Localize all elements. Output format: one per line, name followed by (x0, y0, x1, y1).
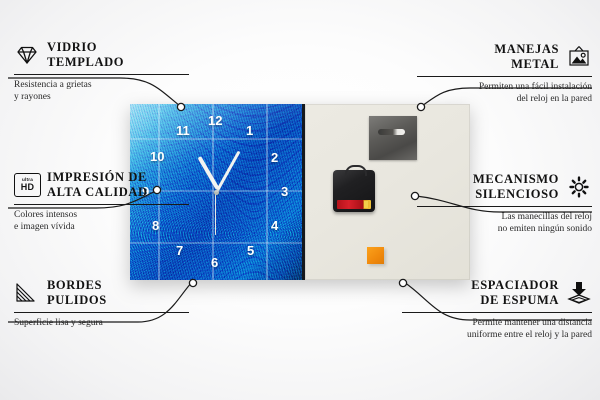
clock-numeral-1: 1 (246, 124, 253, 137)
feature-desc-line1: Permiten una fácil instalación (479, 82, 592, 92)
hanger-slot (378, 129, 405, 135)
clock-numeral-2: 2 (271, 151, 278, 164)
feature-title-line1: ESPACIADOR (471, 278, 559, 292)
clock-minute-hand (216, 151, 241, 192)
feature-desc-line2: del reloj en la pared (517, 94, 592, 104)
diamond-icon (14, 43, 40, 67)
clock-numeral-12: 12 (208, 114, 222, 127)
metal-hanger-plate (369, 116, 417, 160)
feature-divider (14, 74, 189, 75)
feature-desc-line1: Permite mantener una distancia (473, 318, 593, 328)
feature-manejas-metal: MANEJAS METAL Permiten una fácil instala… (417, 42, 592, 106)
feature-title-line1: VIDRIO (47, 40, 97, 54)
polished-edge-icon (14, 281, 40, 305)
infographic-stage: 12 1 2 3 4 5 6 7 8 9 10 11 (0, 0, 600, 400)
feature-title-line1: IMPRESIÓN DE (47, 170, 147, 184)
clock-second-hand (215, 191, 216, 235)
feature-mecanismo-silencioso: MECANISMO SILENCIOSO Las manecillas del … (417, 172, 592, 236)
feature-impresion-alta-calidad: ultraHD IMPRESIÓN DE ALTA CALIDAD Colore… (14, 170, 189, 234)
feature-desc-line2: uniforme entre el reloj y la pared (467, 330, 592, 340)
clock-numeral-6: 6 (211, 256, 218, 269)
feature-bordes-pulidos: BORDES PULIDOS Superficie lisa y segura (14, 278, 189, 329)
spacer-arrow-icon (566, 281, 592, 305)
feature-desc-line1: Superficie lisa y segura (14, 318, 103, 328)
feature-divider (417, 76, 592, 77)
feature-espaciador-espuma: ESPACIADOR DE ESPUMA Permite mantener un… (402, 278, 592, 342)
clock-hour-hand (198, 156, 220, 190)
clock-numeral-7: 7 (176, 244, 183, 257)
feature-desc-line1: Resistencia a grietas (14, 80, 92, 90)
feature-desc-line2: no emiten ningún sonido (498, 224, 592, 234)
feature-desc-line1: Las manecillas del reloj (502, 212, 592, 222)
gear-icon (566, 175, 592, 199)
feature-title-line2: PULIDOS (47, 293, 107, 307)
feature-title-line2: SILENCIOSO (475, 187, 559, 201)
feature-title-line2: ALTA CALIDAD (47, 185, 148, 199)
feature-desc-line1: Colores intensos (14, 210, 77, 220)
clock-numeral-10: 10 (150, 150, 164, 163)
feature-title-line2: DE ESPUMA (480, 293, 559, 307)
feature-divider (417, 206, 592, 207)
picture-hanger-icon (566, 45, 592, 69)
feature-title-line2: TEMPLADO (47, 55, 124, 69)
clock-numeral-4: 4 (271, 219, 278, 232)
feature-desc-line2: e imagen vívida (14, 222, 75, 232)
feature-divider (402, 312, 592, 313)
clock-numeral-5: 5 (247, 244, 254, 257)
feature-vidrio-templado: VIDRIO TEMPLADO Resistencia a grietas y … (14, 40, 189, 104)
clock-numeral-11: 11 (176, 124, 190, 137)
ultra-hd-icon: ultraHD (14, 173, 40, 197)
mechanism-loop (345, 165, 367, 176)
battery (337, 200, 371, 209)
connector-dot-bordes (189, 279, 196, 286)
feature-divider (14, 312, 189, 313)
clock-center-cap (214, 190, 219, 195)
feature-divider (14, 204, 189, 205)
feature-title-line1: BORDES (47, 278, 102, 292)
clock-mechanism (333, 170, 375, 212)
clock-numeral-3: 3 (281, 185, 288, 198)
feature-title-line2: METAL (511, 57, 559, 71)
feature-desc-line2: y rayones (14, 92, 51, 102)
feature-title-line1: MECANISMO (473, 172, 559, 186)
foam-spacer (367, 247, 384, 264)
feature-title-line1: MANEJAS (494, 42, 559, 56)
